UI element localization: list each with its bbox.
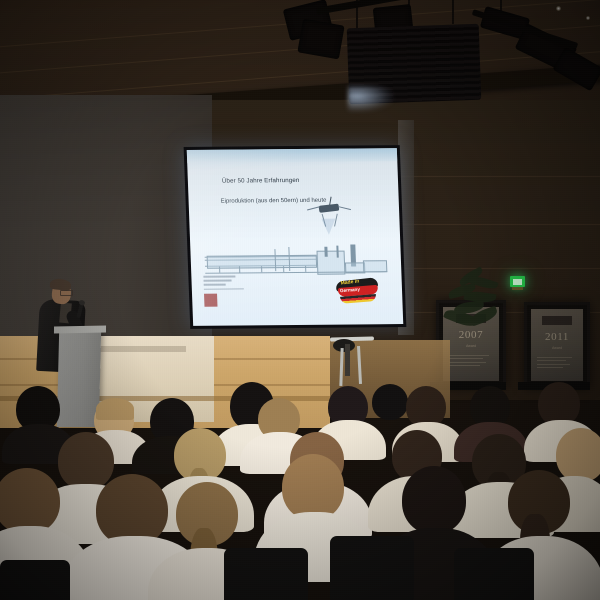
slide-surface: Über 50 Jahre Erfahrungen Eiproduktion (… [187, 148, 404, 326]
auditorium-photo: Über 50 Jahre Erfahrungen Eiproduktion (… [0, 0, 600, 600]
chair-back [330, 536, 414, 600]
company-logo [203, 275, 250, 307]
chair-back [454, 548, 534, 600]
framed-poster-2011: 2011 Award [524, 302, 590, 388]
slide-header-band [187, 148, 398, 163]
glasses-icon [60, 290, 73, 296]
exit-sign-icon [510, 276, 525, 287]
badge-line2: Germany [340, 286, 360, 293]
production-line-graphic [204, 244, 387, 280]
potted-plant [440, 262, 512, 340]
exit-sign-base [512, 287, 523, 290]
podium-top [54, 326, 106, 334]
poster-caption: Award [531, 346, 583, 350]
modern-machine-graphic [307, 197, 352, 233]
made-in-germany-badge: Made in Germany [334, 278, 383, 306]
chair-back [224, 548, 308, 600]
chair-back [0, 560, 70, 600]
logo-mark [204, 294, 217, 307]
poster-caption: Award [443, 344, 499, 348]
projection-screen: Über 50 Jahre Erfahrungen Eiproduktion (… [184, 145, 407, 329]
poster-year: 2011 [531, 331, 583, 343]
lectern-strip [98, 346, 186, 352]
left-wall-panel [0, 95, 212, 365]
stage-light-icon [297, 19, 344, 60]
slide-title: Über 50 Jahre Erfahrungen [222, 177, 300, 185]
